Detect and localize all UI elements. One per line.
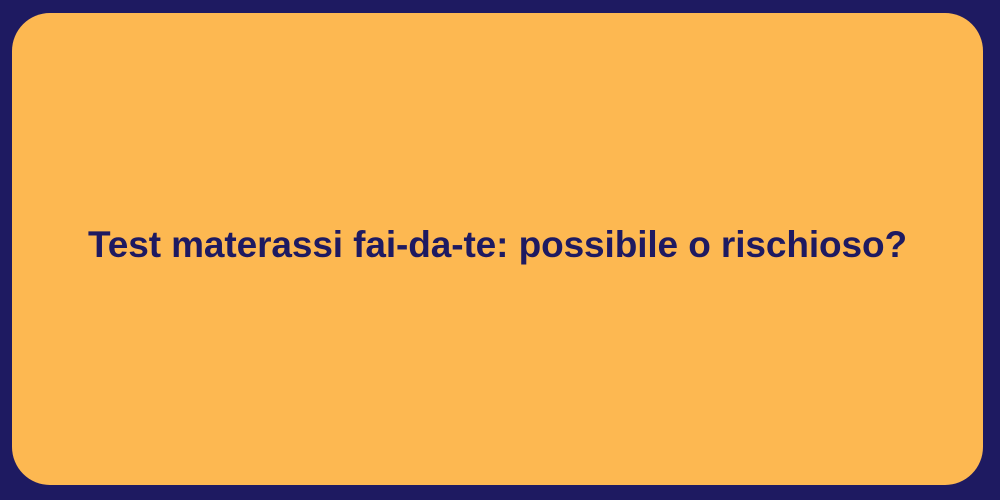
- banner-frame: Test materassi fai-da-te: possibile o ri…: [0, 0, 1000, 500]
- page-title: Test materassi fai-da-te: possibile o ri…: [48, 222, 947, 268]
- banner-card: Test materassi fai-da-te: possibile o ri…: [12, 13, 983, 485]
